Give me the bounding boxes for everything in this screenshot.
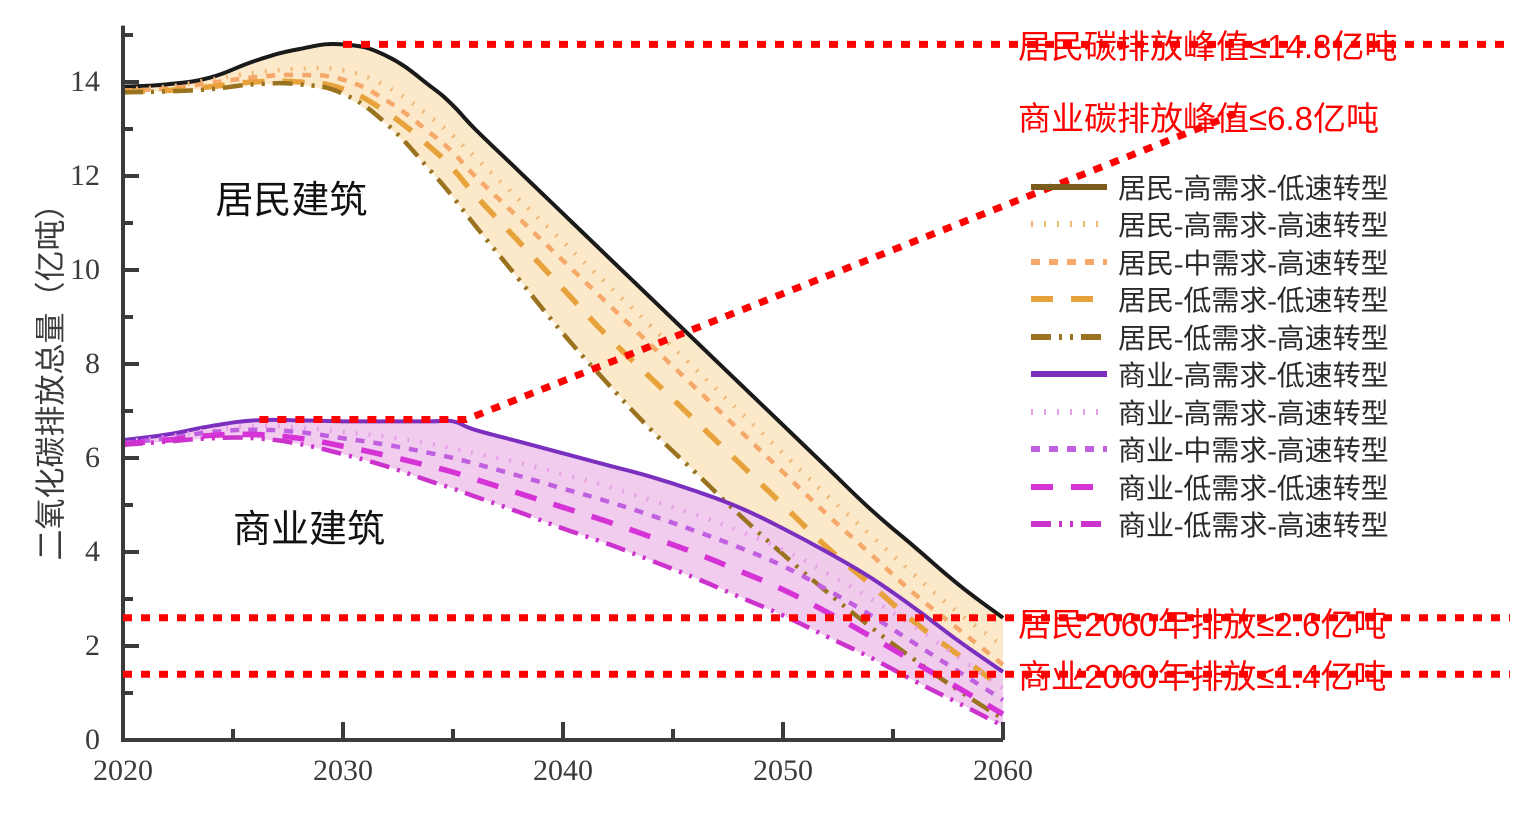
y-tick-label: 10 xyxy=(40,253,100,287)
annotation-2060-residential: 居民2060年排放≤2.6亿吨 xyxy=(1018,598,1386,646)
legend-item[interactable]: 商业-高需求-低速转型 xyxy=(1030,356,1500,394)
x-tick-label: 2060 xyxy=(943,754,1063,788)
y-tick-label: 0 xyxy=(40,723,100,757)
region-label-residential: 居民建筑 xyxy=(215,169,367,224)
y-tick-label: 4 xyxy=(40,535,100,569)
y-tick-label: 8 xyxy=(40,347,100,381)
y-tick-label: 6 xyxy=(40,441,100,475)
legend-item[interactable]: 居民-中需求-高速转型 xyxy=(1030,243,1500,281)
legend-item[interactable]: 居民-低需求-高速转型 xyxy=(1030,318,1500,356)
legend-item-label: 商业-高需求-高速转型 xyxy=(1118,392,1389,432)
legend-item-label: 商业-中需求-高速转型 xyxy=(1118,429,1389,469)
legend-item[interactable]: 商业-高需求-高速转型 xyxy=(1030,393,1500,431)
legend-line-swatch-icon xyxy=(1030,327,1108,347)
legend-line-swatch-icon xyxy=(1030,289,1108,309)
legend-item-label: 居民-中需求-高速转型 xyxy=(1118,242,1389,282)
legend-line-swatch-icon xyxy=(1030,477,1108,497)
chart-legend: 居民-高需求-低速转型居民-高需求-高速转型居民-中需求-高速转型居民-低需求-… xyxy=(1030,168,1500,543)
legend-item[interactable]: 商业-低需求-低速转型 xyxy=(1030,468,1500,506)
annotation-2060-commercial: 商业2060年排放≤1.4亿吨 xyxy=(1018,650,1386,698)
legend-item-label: 商业-高需求-低速转型 xyxy=(1118,354,1389,394)
annotation-peak-residential: 居民碳排放峰值≤14.8亿吨 xyxy=(1018,20,1397,68)
legend-item[interactable]: 居民-低需求-低速转型 xyxy=(1030,281,1500,319)
legend-line-swatch-icon xyxy=(1030,214,1108,234)
chart-root: 二氧化碳排放总量（亿吨） 14121086420 202020302040205… xyxy=(0,0,1528,820)
legend-line-swatch-icon xyxy=(1030,177,1108,197)
legend-line-swatch-icon xyxy=(1030,364,1108,384)
legend-item-label: 居民-低需求-高速转型 xyxy=(1118,317,1389,357)
legend-item-label: 居民-高需求-低速转型 xyxy=(1118,167,1389,207)
x-tick-label: 2020 xyxy=(63,754,183,788)
region-label-commercial: 商业建筑 xyxy=(233,498,385,553)
y-tick-label: 14 xyxy=(40,65,100,99)
y-tick-label: 2 xyxy=(40,629,100,663)
legend-line-swatch-icon xyxy=(1030,402,1108,422)
legend-item-label: 居民-高需求-高速转型 xyxy=(1118,204,1389,244)
legend-item-label: 居民-低需求-低速转型 xyxy=(1118,279,1389,319)
legend-line-swatch-icon xyxy=(1030,252,1108,272)
y-tick-label: 12 xyxy=(40,159,100,193)
legend-item-label: 商业-低需求-高速转型 xyxy=(1118,504,1389,544)
legend-line-swatch-icon xyxy=(1030,439,1108,459)
legend-line-swatch-icon xyxy=(1030,514,1108,534)
legend-item[interactable]: 商业-低需求-高速转型 xyxy=(1030,506,1500,544)
x-tick-label: 2040 xyxy=(503,754,623,788)
legend-item[interactable]: 居民-高需求-高速转型 xyxy=(1030,206,1500,244)
legend-item[interactable]: 商业-中需求-高速转型 xyxy=(1030,431,1500,469)
legend-item[interactable]: 居民-高需求-低速转型 xyxy=(1030,168,1500,206)
x-tick-label: 2050 xyxy=(723,754,843,788)
annotation-peak-commercial: 商业碳排放峰值≤6.8亿吨 xyxy=(1018,92,1379,140)
band-fills xyxy=(123,44,1003,726)
legend-item-label: 商业-低需求-低速转型 xyxy=(1118,467,1389,507)
x-tick-label: 2030 xyxy=(283,754,403,788)
